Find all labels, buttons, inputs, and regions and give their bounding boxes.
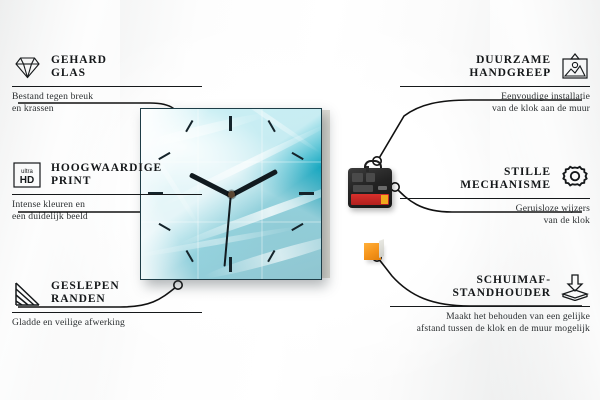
divider — [12, 312, 202, 313]
feature-description: Maakt het behouden van een gelijke afsta… — [390, 311, 590, 334]
feature-description: Eenvoudige installatie van de klok aan d… — [400, 91, 590, 114]
divider — [12, 194, 202, 195]
feature-title: SCHUIMAF- STANDHOUDER — [452, 274, 551, 301]
mechanism-detail — [378, 186, 387, 190]
feature-title: STILLE MECHANISME — [460, 166, 551, 193]
clock-tick-8 — [158, 223, 170, 232]
feature-gehard-glas: GEHARD GLAS Bestand tegen breuk en krass… — [12, 52, 202, 115]
beveled-edges-icon — [12, 278, 42, 308]
divider — [400, 86, 590, 87]
mechanism-detail — [366, 173, 375, 182]
grid-line-v — [261, 109, 263, 279]
feature-title: HOOGWAARDIGE PRINT — [51, 162, 162, 189]
feature-title: GEHARD GLAS — [51, 54, 107, 81]
clock-battery — [351, 194, 389, 205]
feature-title: DUURZAME HANDGREEP — [469, 54, 551, 81]
infographic-canvas: GEHARD GLAS Bestand tegen breuk en krass… — [0, 0, 600, 400]
diamond-icon — [12, 52, 42, 82]
feature-description: Bestand tegen breuk en krassen — [12, 91, 202, 114]
divider — [12, 86, 202, 87]
foam-spacer — [364, 243, 381, 260]
feature-hoogwaardige-print: ultra HD HOOGWAARDIGE PRINT Intense kleu… — [12, 160, 202, 223]
clock-tick-4 — [291, 223, 303, 232]
ultra-hd-icon: ultra HD — [12, 160, 42, 190]
feature-geslepen-randen: GESLEPEN RANDEN Gladde en veilige afwerk… — [12, 278, 202, 329]
feature-stille-mechanisme: STILLE MECHANISME Geruisloze wijzers van… — [400, 164, 590, 227]
svg-text:HD: HD — [20, 175, 34, 186]
clock-tick-2 — [291, 152, 303, 161]
feature-description: Intense kleuren en een duidelijk beeld — [12, 199, 202, 222]
gear-icon — [560, 164, 590, 194]
feather-streak — [140, 109, 270, 155]
feature-duurzame-handgreep: DUURZAME HANDGREEP Eenvoudige installati… — [400, 52, 590, 115]
feature-description: Gladde en veilige afwerking — [12, 317, 202, 329]
mechanism-detail — [352, 173, 363, 182]
divider — [400, 198, 590, 199]
connector-dot-stille-mechanisme — [391, 183, 399, 191]
picture-hanger-icon — [560, 52, 590, 82]
clock-tick-3 — [299, 192, 314, 195]
clock-minute-hand — [230, 169, 278, 198]
clock-tick-12 — [229, 116, 232, 131]
mechanism-detail — [353, 185, 373, 192]
clock-tick-7 — [185, 250, 194, 262]
press-down-icon — [560, 272, 590, 302]
clock-tick-6 — [229, 257, 232, 272]
clock-shaft — [366, 166, 369, 172]
feature-schuimafstandhouder: SCHUIMAF- STANDHOUDER Maakt het behouden… — [390, 272, 590, 335]
feature-description: Geruisloze wijzers van de klok — [400, 203, 590, 226]
clock-center-hub — [228, 191, 235, 198]
feature-title: GESLEPEN RANDEN — [51, 280, 120, 307]
divider — [390, 306, 590, 307]
